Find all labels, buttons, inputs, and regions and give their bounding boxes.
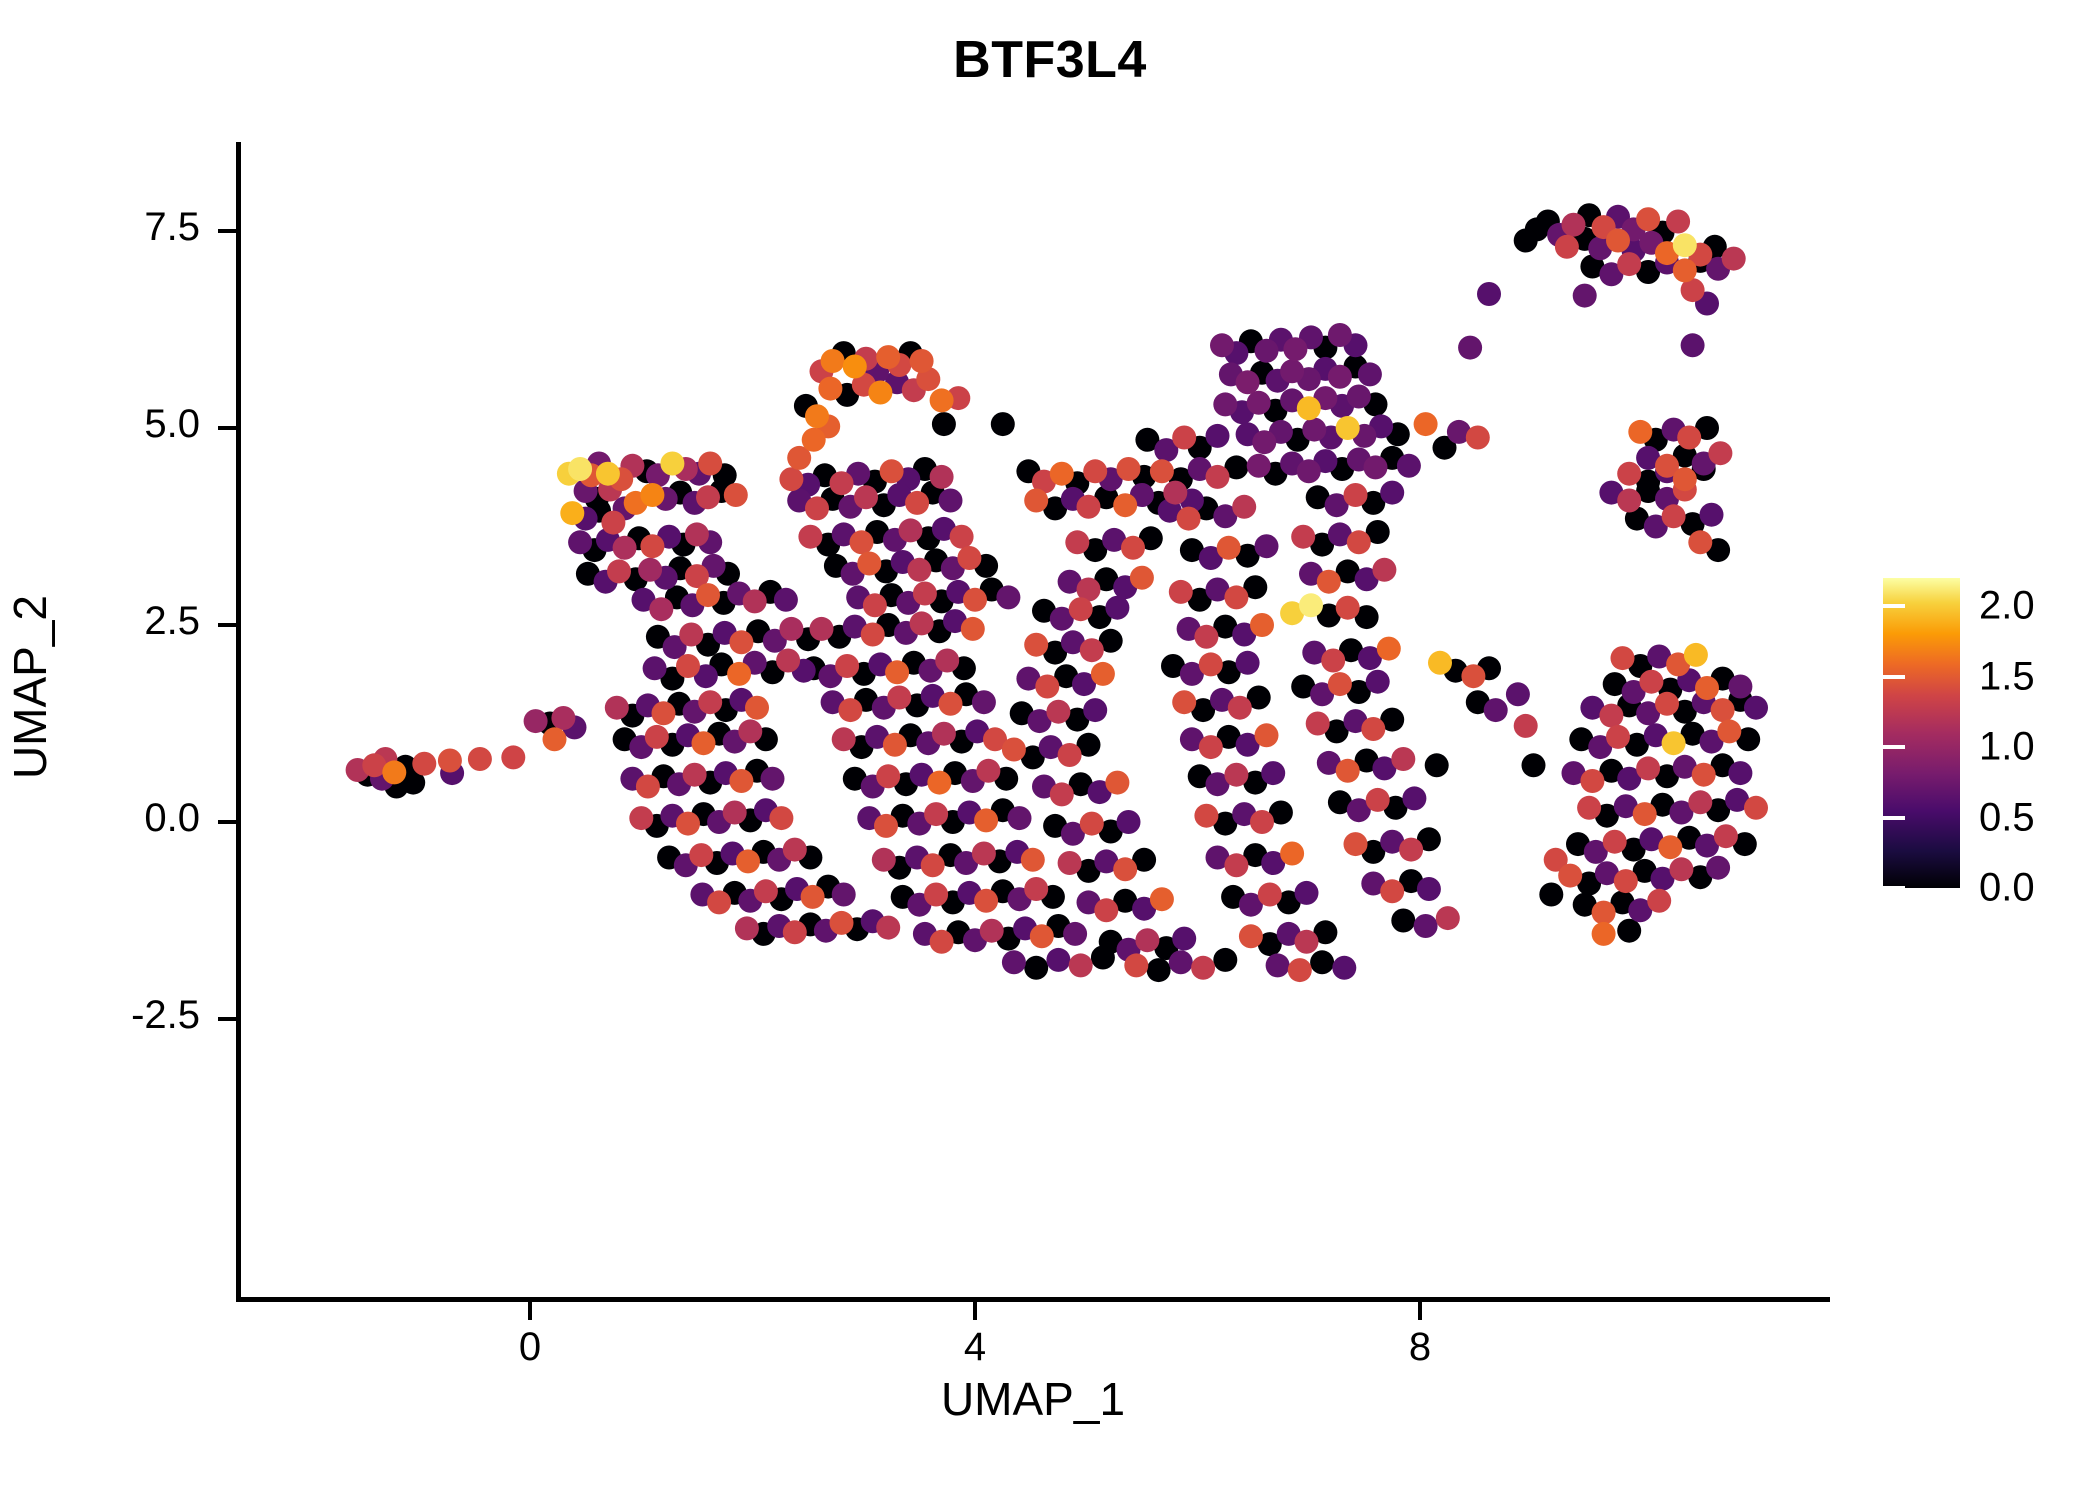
y-axis-tick-label: -2.5 xyxy=(20,993,200,1038)
scatter-point xyxy=(660,452,684,476)
scatter-point xyxy=(1708,441,1732,465)
x-axis-tick xyxy=(973,1302,977,1320)
scatter-point xyxy=(1058,743,1082,767)
scatter-point xyxy=(1150,887,1174,911)
scatter-point xyxy=(1199,652,1223,676)
scatter-point xyxy=(1080,638,1104,662)
scatter-point xyxy=(1280,842,1304,866)
scatter-point xyxy=(1706,856,1730,880)
color-legend-tick xyxy=(1883,886,1905,890)
scatter-point xyxy=(1247,391,1271,415)
scatter-point xyxy=(1558,864,1582,888)
scatter-point xyxy=(727,662,751,686)
scatter-point xyxy=(1121,536,1145,560)
scatter-point xyxy=(1692,763,1716,787)
scatter-point xyxy=(736,849,760,873)
scatter-plot-figure: BTF3L4 -2.50.02.55.07.5 048 UMAP_2 UMAP_… xyxy=(0,0,2100,1500)
scatter-point xyxy=(1058,851,1082,875)
scatter-point xyxy=(1199,735,1223,759)
scatter-point xyxy=(1236,651,1260,675)
scatter-point xyxy=(1366,670,1390,694)
scatter-point xyxy=(382,760,406,784)
scatter-point xyxy=(950,525,974,549)
scatter-point xyxy=(930,465,954,489)
scatter-point xyxy=(1744,696,1768,720)
scatter-point xyxy=(861,623,885,647)
scatter-point xyxy=(887,686,911,710)
x-axis-tick xyxy=(1418,1302,1422,1320)
scatter-point xyxy=(1250,613,1274,637)
scatter-point xyxy=(724,483,748,507)
scatter-point xyxy=(1236,370,1260,394)
scatter-point xyxy=(876,345,900,369)
scatter-point xyxy=(1295,930,1319,954)
scatter-point xyxy=(810,617,834,641)
scatter-point xyxy=(1297,396,1321,420)
scatter-point xyxy=(830,911,854,935)
scatter-point xyxy=(1261,761,1285,785)
scatter-point xyxy=(854,485,878,509)
scatter-point xyxy=(560,501,584,525)
y-axis-tick-label: 5.0 xyxy=(20,402,200,447)
scatter-point xyxy=(1306,712,1330,736)
scatter-point xyxy=(1083,698,1107,722)
scatter-point xyxy=(1247,454,1271,478)
scatter-point xyxy=(1391,909,1415,933)
scatter-point xyxy=(974,889,998,913)
scatter-point xyxy=(1091,662,1115,686)
scatter-point xyxy=(872,848,896,872)
scatter-point xyxy=(1562,213,1586,237)
scatter-point xyxy=(1662,731,1686,755)
scatter-point xyxy=(745,696,769,720)
scatter-point xyxy=(907,558,931,582)
scatter-point xyxy=(1428,651,1452,675)
color-legend-bar xyxy=(1883,578,1960,888)
scatter-point xyxy=(798,525,822,549)
scatter-point xyxy=(939,489,963,513)
scatter-point xyxy=(696,485,720,509)
scatter-point xyxy=(776,649,800,673)
scatter-point xyxy=(1636,207,1660,231)
scatter-point xyxy=(880,459,904,483)
scatter-point xyxy=(1617,919,1641,943)
scatter-point xyxy=(1681,333,1705,357)
scatter-point xyxy=(1366,788,1390,812)
scatter-point xyxy=(1711,698,1735,722)
scatter-point xyxy=(1135,928,1159,952)
scatter-point xyxy=(1035,675,1059,699)
scatter-point xyxy=(899,518,923,542)
scatter-point xyxy=(1506,682,1530,706)
scatter-point xyxy=(913,582,937,606)
scatter-point xyxy=(801,885,825,909)
x-axis-tick-label: 4 xyxy=(915,1325,1035,1370)
scatter-point xyxy=(1191,956,1215,980)
scatter-point xyxy=(607,559,631,583)
color-legend-tick xyxy=(1861,816,1883,820)
scatter-point xyxy=(1391,747,1415,771)
scatter-point xyxy=(1336,416,1360,440)
scatter-point xyxy=(1105,771,1129,795)
scatter-point xyxy=(1414,914,1438,938)
scatter-point xyxy=(729,769,753,793)
scatter-point xyxy=(640,483,664,507)
scatter-point xyxy=(910,349,934,373)
scatter-point xyxy=(640,534,664,558)
scatter-point xyxy=(1425,753,1449,777)
scatter-point xyxy=(676,654,700,678)
scatter-point xyxy=(1224,853,1248,877)
scatter-point xyxy=(1299,593,1323,617)
scatter-point xyxy=(1714,824,1738,848)
scatter-point xyxy=(1172,927,1196,951)
scatter-point xyxy=(1080,812,1104,836)
scatter-point xyxy=(1206,424,1230,448)
scatter-point xyxy=(1150,459,1174,483)
scatter-point xyxy=(1728,761,1752,785)
scatter-point xyxy=(1065,530,1089,554)
scatter-point xyxy=(1662,504,1686,528)
scatter-point xyxy=(805,404,829,428)
scatter-point xyxy=(1717,719,1741,743)
scatter-point xyxy=(1606,229,1630,253)
scatter-point xyxy=(1414,412,1438,436)
scatter-point xyxy=(735,916,759,940)
scatter-point xyxy=(783,838,807,862)
scatter-point xyxy=(601,511,625,535)
scatter-point xyxy=(1364,455,1388,479)
x-axis-tick-label: 8 xyxy=(1360,1325,1480,1370)
scatter-point xyxy=(1399,838,1423,862)
scatter-point xyxy=(412,752,436,776)
color-legend-tick xyxy=(1861,745,1883,749)
y-axis-tick xyxy=(218,820,236,824)
scatter-point xyxy=(1250,810,1274,834)
scatter-point xyxy=(1288,958,1312,982)
scatter-point xyxy=(1617,462,1641,486)
color-legend-tick xyxy=(1883,675,1905,679)
scatter-point xyxy=(1046,948,1070,972)
scatter-point xyxy=(1094,898,1118,922)
scatter-point xyxy=(1606,725,1630,749)
scatter-point xyxy=(1361,717,1385,741)
scatter-point xyxy=(679,623,703,647)
scatter-point xyxy=(1083,459,1107,483)
scatter-point xyxy=(930,930,954,954)
x-axis-tick-label: 0 xyxy=(470,1325,590,1370)
scatter-point xyxy=(1172,690,1196,714)
scatter-point xyxy=(676,812,700,836)
color-legend-tick xyxy=(1883,816,1905,820)
scatter-point xyxy=(1255,723,1279,747)
scatter-point xyxy=(1344,832,1368,856)
color-legend-tick xyxy=(1861,675,1883,679)
scatter-point xyxy=(1117,457,1141,481)
scatter-point xyxy=(1147,958,1171,982)
scatter-point xyxy=(1297,459,1321,483)
scatter-point xyxy=(1336,596,1360,620)
scatter-point xyxy=(961,617,985,641)
scatter-point xyxy=(1117,810,1141,834)
scatter-point xyxy=(1744,796,1768,820)
scatter-point xyxy=(932,412,956,436)
scatter-point xyxy=(980,919,1004,943)
scatter-point xyxy=(1402,786,1426,810)
scatter-point xyxy=(1466,426,1490,450)
scatter-point xyxy=(1688,790,1712,814)
scatter-point xyxy=(1050,462,1074,486)
scatter-point xyxy=(738,719,762,743)
scatter-point xyxy=(1603,830,1627,854)
scatter-point xyxy=(1213,392,1237,416)
scatter-point xyxy=(1539,883,1563,907)
scatter-point xyxy=(1328,672,1352,696)
scatter-point xyxy=(1113,493,1137,517)
scatter-point xyxy=(1332,956,1356,980)
scatter-point xyxy=(1514,229,1538,253)
scatter-point xyxy=(1177,507,1201,531)
scatter-point xyxy=(1647,889,1671,913)
scatter-point xyxy=(501,745,525,769)
scatter-point xyxy=(805,496,829,520)
scatter-point xyxy=(1002,738,1026,762)
scatter-point xyxy=(683,763,707,787)
color-legend-tick xyxy=(1861,604,1883,608)
scatter-point xyxy=(905,491,929,515)
scatter-point xyxy=(1206,465,1230,489)
y-axis-tick xyxy=(218,229,236,233)
scatter-point xyxy=(863,593,887,617)
scatter-point xyxy=(1069,953,1093,977)
scatter-point xyxy=(689,843,713,867)
scatter-point xyxy=(957,546,981,570)
y-axis-tick xyxy=(218,623,236,627)
scatter-point xyxy=(636,775,660,799)
scatter-point xyxy=(1372,558,1396,582)
scatter-point xyxy=(974,808,998,832)
scatter-point xyxy=(972,842,996,866)
scatter-point xyxy=(1021,848,1045,872)
y-axis-tick xyxy=(218,1017,236,1021)
scatter-point xyxy=(1310,950,1334,974)
scatter-point xyxy=(1194,804,1218,828)
scatter-point xyxy=(1655,692,1679,716)
scatter-point xyxy=(692,731,716,755)
scatter-point xyxy=(1666,210,1690,234)
scatter-point xyxy=(1224,585,1248,609)
scatter-point xyxy=(743,589,767,613)
scatter-point xyxy=(779,617,803,641)
scatter-point xyxy=(729,630,753,654)
scatter-point xyxy=(843,355,867,379)
scatter-point xyxy=(1677,426,1701,450)
color-legend-tick xyxy=(1883,745,1905,749)
scatter-point xyxy=(910,611,934,635)
scatter-point xyxy=(857,552,881,576)
scatter-point xyxy=(1069,597,1093,621)
color-legend-tick xyxy=(1883,604,1905,608)
scatter-point xyxy=(649,597,673,621)
scatter-point xyxy=(930,388,954,412)
scatter-point xyxy=(1105,596,1129,620)
scatter-point xyxy=(818,377,842,401)
scatter-point xyxy=(921,853,945,877)
scatter-point xyxy=(932,722,956,746)
scatter-point xyxy=(963,588,987,612)
scatter-point xyxy=(1417,877,1441,901)
scatter-point xyxy=(835,654,859,678)
scatter-point xyxy=(1728,675,1752,699)
scatter-point xyxy=(1484,698,1508,722)
scatter-point xyxy=(1673,467,1697,491)
x-axis-title: UMAP_1 xyxy=(236,1372,1830,1426)
scatter-point xyxy=(1169,950,1193,974)
scatter-point xyxy=(1695,676,1719,700)
scatter-point xyxy=(1669,857,1693,881)
scatter-point xyxy=(1617,252,1641,276)
scatter-point xyxy=(1358,362,1382,386)
scatter-point xyxy=(1224,763,1248,787)
scatter-point xyxy=(707,890,731,914)
scatter-point xyxy=(1194,625,1218,649)
scatter-point xyxy=(1599,704,1623,728)
y-axis-line xyxy=(236,142,241,1302)
color-legend-label: 1.0 xyxy=(1979,725,2035,770)
scatter-point xyxy=(698,452,722,476)
scatter-point xyxy=(1522,753,1546,777)
scatter-point xyxy=(1555,235,1579,259)
scatter-point xyxy=(1252,430,1276,454)
scatter-point xyxy=(1458,336,1482,360)
color-legend-tick xyxy=(1861,886,1883,890)
scatter-point xyxy=(1380,481,1404,505)
scatter-point xyxy=(1700,503,1724,527)
scatter-point xyxy=(939,692,963,716)
scatter-point xyxy=(1688,530,1712,554)
scatter-point xyxy=(543,727,567,751)
scatter-point xyxy=(1210,333,1234,357)
scatter-point xyxy=(1397,454,1421,478)
scatter-point xyxy=(972,690,996,714)
scatter-point xyxy=(551,706,575,730)
scatter-point xyxy=(1328,365,1352,389)
scatter-point xyxy=(1617,489,1641,513)
scatter-point xyxy=(1008,806,1032,830)
scatter-point xyxy=(976,759,1000,783)
scatter-point xyxy=(1328,323,1352,347)
scatter-point xyxy=(1024,633,1048,657)
scatter-point xyxy=(1636,756,1660,780)
scatter-point xyxy=(1673,233,1697,257)
x-axis-tick xyxy=(528,1302,532,1320)
scatter-point xyxy=(1002,950,1026,974)
scatter-point xyxy=(1291,525,1315,549)
scatter-point xyxy=(774,588,798,612)
scatter-point xyxy=(779,467,803,491)
scatter-point xyxy=(830,471,854,495)
scatter-point xyxy=(698,690,722,714)
scatter-point xyxy=(1266,953,1290,977)
scatter-point xyxy=(1130,566,1154,590)
scatter-point xyxy=(643,656,667,680)
scatter-point xyxy=(991,412,1015,436)
scatter-point xyxy=(868,381,892,405)
scatter-point xyxy=(696,583,720,607)
scatter-point xyxy=(596,462,620,486)
scatter-point xyxy=(885,660,909,684)
scatter-point xyxy=(927,771,951,795)
scatter-point xyxy=(1573,284,1597,308)
scatter-point xyxy=(1377,637,1401,661)
x-axis-line xyxy=(236,1297,1830,1302)
scatter-point xyxy=(652,701,676,725)
scatter-point xyxy=(1722,247,1746,271)
scatter-point xyxy=(783,920,807,944)
scatter-point xyxy=(1302,418,1326,442)
scatter-point xyxy=(838,698,862,722)
scatter-point xyxy=(1344,483,1368,507)
scatter-point xyxy=(1024,489,1048,513)
scatter-point xyxy=(1611,646,1635,670)
scatter-point xyxy=(876,916,900,940)
scatter-point xyxy=(568,457,592,481)
scatter-point xyxy=(1577,796,1601,820)
scatter-point xyxy=(1258,883,1282,907)
scatter-point xyxy=(1347,530,1371,554)
scatter-point xyxy=(832,883,856,907)
scatter-point xyxy=(1283,337,1307,361)
color-legend-label: 0.0 xyxy=(1979,866,2035,911)
y-axis-title: UMAP_2 xyxy=(3,527,57,847)
scatter-point xyxy=(935,649,959,673)
scatter-point xyxy=(1461,664,1485,688)
scatter-point xyxy=(1295,881,1319,905)
scatter-point xyxy=(883,733,907,757)
scatter-point xyxy=(1255,534,1279,558)
scatter-point xyxy=(832,727,856,751)
scatter-point xyxy=(1063,922,1087,946)
scatter-point xyxy=(1380,879,1404,903)
scatter-point xyxy=(802,428,826,452)
scatter-point xyxy=(761,767,785,791)
y-axis-tick-label: 7.5 xyxy=(20,205,200,250)
scatter-points-layer xyxy=(0,0,2100,1500)
scatter-point xyxy=(524,709,548,733)
scatter-point xyxy=(1077,495,1101,519)
scatter-point xyxy=(1592,922,1616,946)
scatter-point xyxy=(1684,643,1708,667)
scatter-point xyxy=(924,802,948,826)
scatter-point xyxy=(1673,258,1697,282)
scatter-point xyxy=(1280,359,1304,383)
scatter-point xyxy=(1163,481,1187,505)
scatter-point xyxy=(723,801,747,825)
scatter-point xyxy=(1172,426,1196,450)
scatter-point xyxy=(468,747,492,771)
scatter-point xyxy=(924,883,948,907)
scatter-point xyxy=(876,764,900,788)
scatter-point xyxy=(1239,924,1263,948)
scatter-point xyxy=(1317,570,1341,594)
scatter-point xyxy=(1228,696,1252,720)
color-legend-label: 0.5 xyxy=(1979,795,2035,840)
color-legend-label: 1.5 xyxy=(1979,654,2035,699)
scatter-point xyxy=(1321,649,1345,673)
scatter-point xyxy=(1628,420,1652,444)
scatter-point xyxy=(638,558,662,582)
scatter-point xyxy=(1436,906,1460,930)
